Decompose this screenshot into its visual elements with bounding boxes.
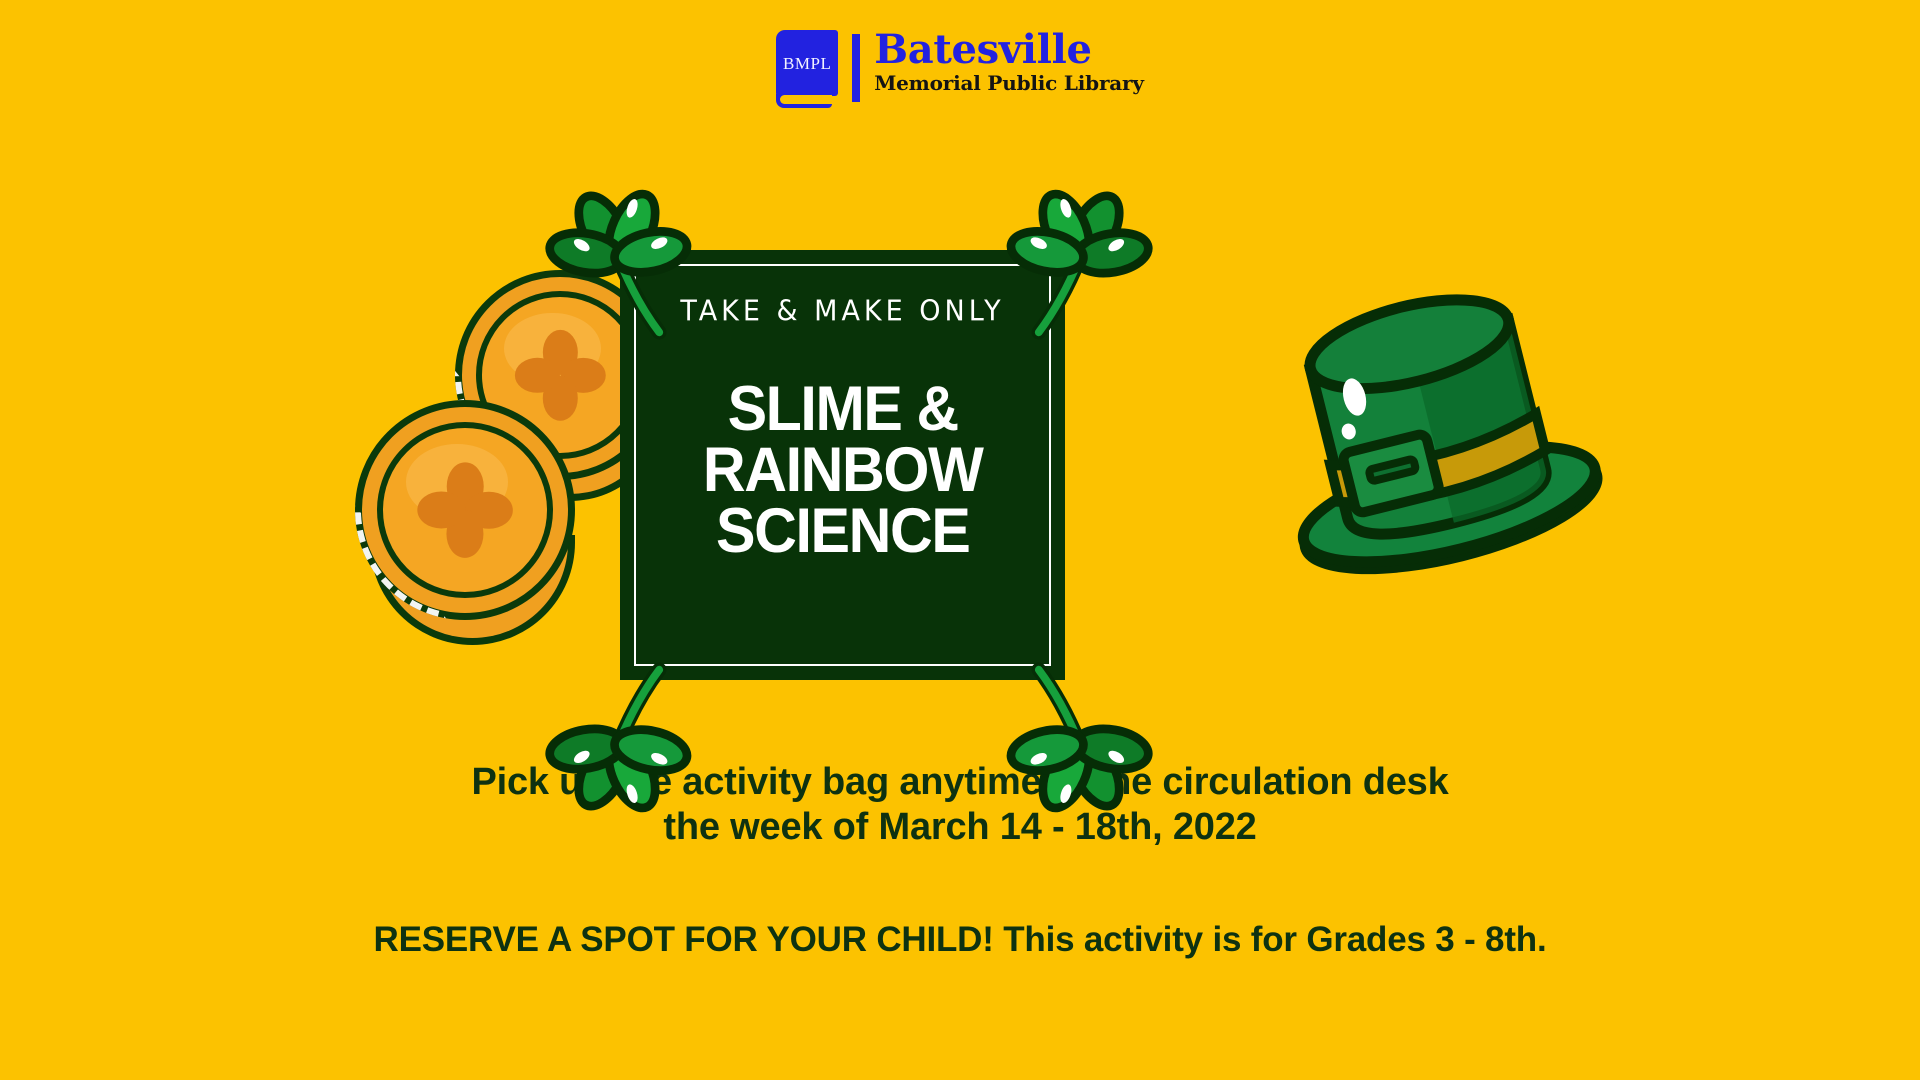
headline-line-2: RAINBOW xyxy=(703,440,983,501)
headline-line-3: SCIENCE xyxy=(703,501,983,562)
four-leaf-clover-icon xyxy=(1000,660,1155,815)
library-logo: BMPL Batesville Memorial Public Library xyxy=(0,30,1920,108)
book-monogram: BMPL xyxy=(776,54,838,74)
logo-name: Batesville xyxy=(874,30,1144,70)
logo-subtitle: Memorial Public Library xyxy=(874,73,1144,93)
logo-wordmark: Batesville Memorial Public Library xyxy=(874,30,1144,93)
headline-line-1: SLIME & xyxy=(703,379,983,440)
sign-headline: SLIME & RAINBOW SCIENCE xyxy=(703,379,983,562)
flyer-canvas: BMPL Batesville Memorial Public Library xyxy=(0,0,1920,1080)
logo-divider xyxy=(852,34,860,102)
leprechaun-hat-icon xyxy=(1280,260,1610,590)
four-leaf-clover-icon xyxy=(543,660,698,815)
four-leaf-clover-icon xyxy=(1000,187,1155,342)
book-icon: BMPL xyxy=(776,30,838,108)
reserve-notice: RESERVE A SPOT FOR YOUR CHILD! This acti… xyxy=(0,920,1920,960)
body-copy: Pick up the activity bag anytime at the … xyxy=(0,760,1920,960)
gold-coin-icon xyxy=(355,400,575,620)
pickup-instructions: Pick up the activity bag anytime at the … xyxy=(0,760,1920,850)
coin-clover-emboss xyxy=(419,464,511,556)
decorative-artwork: TAKE & MAKE ONLY SLIME & RAINBOW SCIENCE xyxy=(0,105,1920,715)
sign-eyebrow: TAKE & MAKE ONLY xyxy=(680,295,1004,328)
book-page-notch xyxy=(780,95,832,104)
pickup-line-2: the week of March 14 - 18th, 2022 xyxy=(0,805,1920,850)
pickup-line-1: Pick up the activity bag anytime at the … xyxy=(0,760,1920,805)
four-leaf-clover-icon xyxy=(543,187,698,342)
